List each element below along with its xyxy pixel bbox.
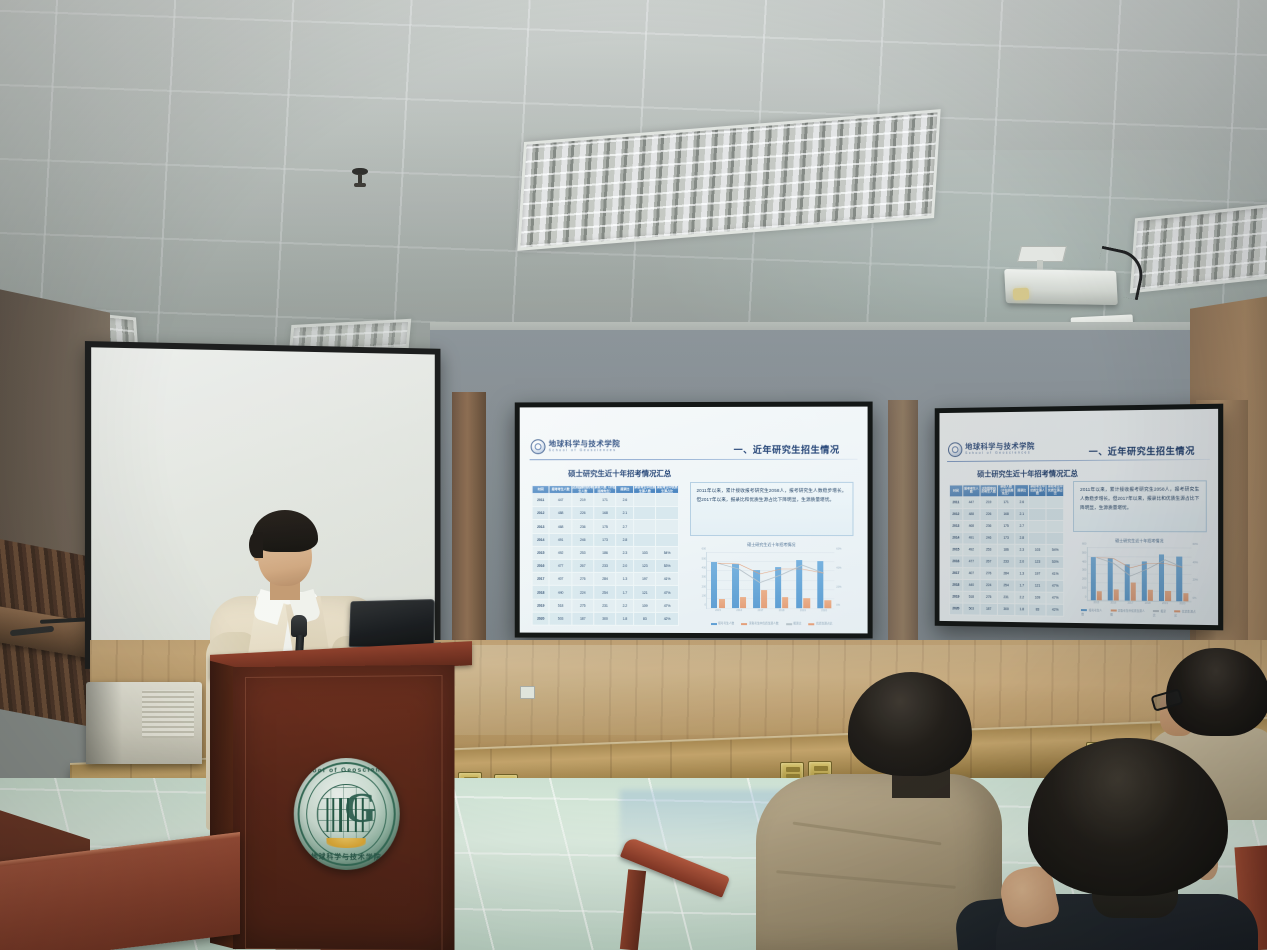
table-cell: 2.2 (616, 599, 634, 612)
table-cell: 2015 (532, 546, 550, 559)
table-cell: 491 (963, 532, 980, 544)
emblem-chinese-text: 地球科学与技术学院 (294, 851, 400, 862)
slide-canvas: 地球科学与技术学院 School of Geosciences 一、近年研究生招… (520, 407, 868, 634)
table-cell: 1.8 (616, 612, 634, 625)
table-cell: 47% (656, 586, 678, 599)
table-cell: 2.0 (616, 560, 634, 573)
table-cell: 47% (1046, 580, 1064, 592)
table-cell: 503 (963, 603, 980, 615)
table-cell: 2.6 (616, 494, 634, 507)
logo-english-name: School of Geosciences (549, 448, 621, 452)
table-cell: 186 (594, 546, 616, 559)
table-header-row: 时间报考考生人数达到国家线的考生人数录取人数（不包括推免生）报录比录取考生中优质… (532, 485, 678, 493)
chart-x-tick-label: 2016 (1105, 600, 1122, 604)
slide-subtitle: 硕士研究生近十年招考情况汇总 (568, 468, 671, 479)
table-cell: 47% (656, 599, 678, 612)
table-cell: 503 (549, 612, 571, 625)
mini-bar-chart: 硕士研究生近十年招考情况 01002003004005006000%20%40%… (1070, 536, 1209, 618)
emblem-english-text: School of Geosciences (294, 766, 400, 774)
chart-x-tick-label: 2019 (792, 608, 813, 612)
legend-label: 录取考生中优质生源人数 (749, 623, 779, 626)
table-row: 20174072762841.319741% (532, 573, 678, 586)
table-cell: 492 (549, 546, 571, 559)
table-cell (1029, 520, 1047, 532)
table-cell: 171 (997, 496, 1014, 508)
chart-x-tick-label: 2017 (750, 608, 771, 612)
table-row: 20205031873001.88342% (532, 612, 678, 626)
table-cell (1029, 496, 1047, 508)
legend-swatch (786, 623, 792, 625)
table-cell: 171 (594, 494, 616, 507)
chart-plot-area: 01002003004005006000%20%40%60%2015201620… (706, 552, 834, 609)
table-cell: 2011 (532, 494, 550, 507)
table-cell: 236 (572, 520, 594, 533)
chart-x-tick-label: 2019 (1156, 600, 1173, 604)
table-row: 20134682361752.7 (949, 520, 1064, 532)
table-cell: 2015 (949, 544, 963, 556)
school-seal-icon (531, 439, 546, 454)
attendee-hair (1166, 648, 1267, 736)
chart-legend-item: 报考考生人数 (1081, 608, 1104, 616)
table-cell: 447 (963, 497, 980, 509)
table-cell: 224 (980, 579, 997, 591)
table-row: 20114472191712.6 (949, 496, 1064, 508)
attendee-hair (848, 672, 972, 776)
table-cell: 2020 (949, 603, 963, 615)
legend-swatch (711, 623, 717, 625)
table-cell: 488 (963, 508, 980, 520)
legend-swatch (1110, 610, 1116, 612)
chart-secondary-y-tick-label: 60% (1191, 543, 1198, 546)
school-emblem: G School of Geosciences 地球科学与技术学院 (294, 757, 400, 871)
table-cell: 2014 (949, 532, 963, 544)
table-cell: 2.7 (1015, 520, 1029, 532)
table-cell: 231 (594, 599, 616, 612)
table-cell: 187 (980, 603, 997, 615)
table-cell: 54% (1046, 544, 1064, 556)
chart-x-tick-label: 2015 (1088, 600, 1105, 604)
table-cell: 2.1 (1015, 508, 1029, 520)
table-row: 20134682361752.7 (532, 520, 678, 533)
table-cell: 284 (594, 573, 616, 586)
chart-x-tick-label: 2020 (814, 608, 835, 612)
table-row: 20144912461732.8 (532, 533, 678, 546)
table-cell: 491 (549, 533, 571, 546)
table-cell: 2019 (949, 591, 963, 603)
table-cell: 253 (980, 544, 997, 556)
chart-x-tick-label: 2017 (1122, 600, 1139, 604)
table-header-row: 时间报考考生人数达到国家线的考生人数录取人数（不包括推免生）报录比录取考生中优质… (949, 485, 1064, 497)
attendee-hair (1028, 738, 1228, 896)
chart-legend-item: 报录比 (1153, 609, 1169, 617)
table-row: 20184402242541.712147% (532, 586, 678, 599)
chart-legend: 报考考生人数录取考生中优质生源人数报录比优质生源占比 (700, 621, 844, 625)
table-cell (1046, 520, 1064, 532)
table-cell: 2011 (949, 497, 963, 509)
table-cell: 447 (549, 494, 571, 507)
table-cell: 477 (963, 556, 980, 568)
table-cell: 123 (1029, 556, 1047, 568)
table-cell (634, 533, 656, 546)
table-cell: 2016 (949, 555, 963, 567)
table-col-header: 达到国家线的考生人数 (980, 485, 997, 497)
table-cell (634, 494, 656, 507)
speaking-podium: G School of Geosciences 地球科学与技术学院 (210, 648, 472, 950)
table-cell: 468 (963, 520, 980, 532)
chart-y-tick-label: 600 (702, 548, 708, 551)
table-col-header: 报录比 (1015, 485, 1029, 497)
table-col-header: 录取考生中优质生源占比 (1046, 485, 1064, 497)
table-cell: 275 (980, 591, 997, 603)
school-logo: 地球科学与技术学院 School of Geosciences (531, 439, 621, 454)
slide-canvas: 地球科学与技术学院 School of Geosciences 一、近年研究生招… (939, 409, 1218, 625)
presenter-hair (252, 510, 318, 552)
fire-sprinkler-icon (352, 168, 368, 190)
table-cell: 83 (634, 612, 656, 625)
table-cell: 197 (1029, 568, 1047, 580)
ac-grille-icon (142, 690, 194, 738)
projector-lens-icon (1013, 288, 1030, 301)
table-cell: 233 (997, 556, 1014, 568)
header-divider (948, 459, 1210, 463)
table-cell: 42% (1046, 604, 1064, 616)
table-cell (656, 520, 678, 533)
table-cell: 53% (1046, 556, 1064, 568)
table-cell: 300 (997, 603, 1014, 615)
table-cell: 2.1 (616, 507, 634, 520)
chart-secondary-y-tick-label: 40% (835, 567, 842, 570)
table-cell: 477 (549, 559, 571, 572)
summary-callout: 2011年以来，累计接收报考研究生2058人，报考研究生人数稳步增长。但2017… (1073, 480, 1206, 532)
table-cell: 2018 (532, 586, 550, 599)
table-cell: 2.6 (1015, 496, 1029, 508)
table-cell: 2020 (532, 612, 550, 625)
chart-line-overlay (1088, 547, 1191, 601)
table-cell: 219 (572, 494, 594, 507)
chart-line-series (1096, 558, 1182, 569)
table-cell: 1.7 (1015, 580, 1029, 592)
table-cell: 2017 (949, 567, 963, 579)
table-cell: 2.0 (1015, 556, 1029, 568)
sun-icon (326, 838, 365, 848)
chart-x-tick-label: 2018 (1139, 600, 1156, 604)
chart-legend-item: 优质生源占比 (809, 622, 833, 626)
chart-line-series (718, 564, 824, 575)
chart-secondary-y-tick-label: 0% (835, 604, 840, 607)
emblem-g-letter: G (344, 788, 376, 830)
table-cell (1046, 532, 1064, 544)
table-cell: 186 (997, 544, 1014, 556)
legend-swatch (741, 623, 747, 625)
table-cell: 284 (997, 568, 1014, 580)
table-col-header: 录取考生中优质生源人数 (634, 485, 656, 493)
table-cell: 123 (634, 560, 656, 573)
table-cell: 47% (1046, 592, 1064, 604)
wood-pillar (888, 400, 918, 650)
table-cell: 276 (980, 567, 997, 579)
table-cell: 440 (549, 586, 571, 599)
table-cell: 440 (963, 579, 980, 591)
table-row: 20124882261682.1 (532, 507, 678, 520)
table-cell: 2.7 (616, 520, 634, 533)
table-cell: 492 (963, 544, 980, 556)
table-row: 20174072762841.319741% (949, 567, 1064, 580)
chart-line-series (718, 564, 824, 584)
table-row: 20154922531862.310354% (532, 546, 678, 559)
table-col-header: 时间 (532, 486, 550, 494)
table-cell: 2012 (949, 508, 963, 520)
chart-x-tick-label: 2020 (1174, 601, 1191, 605)
chart-secondary-y-tick-label: 60% (835, 548, 842, 551)
table-cell: 276 (572, 573, 594, 586)
table-col-header: 录取考生中优质生源人数 (1029, 485, 1047, 497)
table-cell: 224 (572, 586, 594, 599)
table-cell: 103 (1029, 544, 1047, 556)
chart-title: 硕士研究生近十年招考情况 (686, 542, 857, 548)
chart-legend-item: 优质生源占比 (1174, 609, 1198, 617)
table-cell (634, 520, 656, 533)
laptop-screen[interactable] (349, 599, 435, 649)
table-cell: 518 (963, 591, 980, 603)
chart-title: 硕士研究生近十年招考情况 (1070, 538, 1209, 545)
chart-legend-item: 录取考生中优质生源人数 (1110, 608, 1147, 617)
table-cell: 109 (1029, 592, 1047, 604)
table-cell: 1.3 (616, 573, 634, 586)
legend-label: 报考考生人数 (718, 622, 734, 625)
legend-swatch (809, 623, 815, 625)
chart-y-tick-label: 600 (1082, 543, 1088, 546)
table-cell: 41% (1046, 568, 1064, 580)
table-cell: 41% (656, 573, 678, 586)
table-cell: 121 (634, 586, 656, 599)
table-cell: 219 (980, 497, 997, 509)
table-row: 20144912461732.8 (949, 532, 1064, 544)
table-cell: 254 (997, 579, 1014, 591)
table-cell: 53% (656, 560, 678, 573)
table-cell: 267 (980, 556, 997, 568)
chart-secondary-y-tick-label: 20% (835, 585, 842, 588)
table-cell: 246 (980, 532, 997, 544)
chart-legend-item: 报考考生人数 (711, 621, 735, 625)
table-cell (656, 494, 678, 507)
table-cell: 2.8 (1015, 532, 1029, 544)
table-cell: 246 (572, 533, 594, 546)
table-cell: 407 (963, 567, 980, 579)
table-cell: 54% (656, 546, 678, 559)
table-cell (1046, 508, 1064, 520)
chair-armrest (620, 856, 730, 950)
table-cell: 2012 (532, 507, 550, 520)
chart-legend-item: 报录比 (786, 622, 802, 626)
chart-line-series (1096, 558, 1182, 577)
table-col-header: 报录比 (616, 486, 634, 494)
table-cell (634, 507, 656, 520)
table-row: 20154922531862.310354% (949, 544, 1064, 556)
ceiling-projector (1005, 258, 1135, 314)
wood-pillar (452, 392, 486, 672)
table-cell: 168 (594, 507, 616, 520)
legend-label: 报录比 (793, 623, 801, 626)
legend-swatch (1081, 609, 1087, 611)
table-cell (1029, 532, 1047, 544)
table-cell: 1.8 (1015, 603, 1029, 615)
table-cell: 2013 (532, 520, 550, 533)
logo-chinese-name: 地球科学与技术学院 (549, 440, 621, 448)
table-col-header: 录取人数（不包括推免生） (997, 485, 1014, 497)
chart-secondary-y-tick-label: 40% (1191, 561, 1198, 564)
header-divider (530, 459, 857, 461)
table-col-header: 录取人数（不包括推免生） (594, 486, 616, 494)
table-cell: 121 (1029, 580, 1047, 592)
table-cell: 103 (634, 546, 656, 559)
table-row: 20205031873001.88342% (949, 603, 1064, 616)
chart-legend: 报考考生人数录取考生中优质生源人数报录比优质生源占比 (1081, 608, 1198, 618)
table-cell (1029, 508, 1047, 520)
projected-slide-main: 地球科学与技术学院 School of Geosciences 一、近年研究生招… (515, 402, 873, 639)
table-cell: 300 (594, 612, 616, 625)
admissions-table-wrap: 时间报考考生人数达到国家线的考生人数录取人数（不包括推免生）报录比录取考生中优质… (531, 485, 678, 626)
chart-legend-item: 录取考生中优质生源人数 (741, 621, 778, 625)
table-cell: 2.3 (1015, 544, 1029, 556)
table-cell: 2013 (949, 520, 963, 532)
table-row: 20114472191712.6 (532, 494, 678, 507)
callout-text: 2011年以来，累计接收报考研究生2058人，报考研究生人数稳步增长。但2017… (697, 486, 847, 504)
chart-x-tick-label: 2016 (729, 608, 750, 612)
table-cell: 233 (594, 559, 616, 572)
table-cell: 2019 (532, 599, 550, 612)
table-row: 20195182752312.210947% (532, 599, 678, 612)
logo-english-name: School of Geosciences (965, 451, 1035, 456)
table-cell: 109 (634, 599, 656, 612)
table-cell: 2014 (532, 533, 550, 546)
chart-x-tick-label: 2015 (707, 608, 728, 612)
table-cell: 275 (572, 599, 594, 612)
table-col-header: 报考考生人数 (963, 485, 980, 497)
table-cell: 175 (594, 520, 616, 533)
conference-room-photo: 地球科学与技术学院 School of Geosciences 一、近年研究生招… (0, 0, 1267, 950)
slide-subtitle: 硕士研究生近十年招考情况汇总 (977, 468, 1078, 480)
table-cell: 407 (549, 573, 571, 586)
table-cell: 2.8 (616, 533, 634, 546)
table-cell: 2.2 (1015, 591, 1029, 603)
table-cell: 231 (997, 591, 1014, 603)
table-cell: 173 (997, 532, 1014, 544)
school-logo: 地球科学与技术学院 School of Geosciences (948, 441, 1035, 457)
table-cell: 2018 (949, 579, 963, 591)
table-cell: 187 (572, 612, 594, 625)
air-conditioner-unit (86, 682, 202, 764)
admissions-table: 时间报考考生人数达到国家线的考生人数录取人数（不包括推免生）报录比录取考生中优质… (949, 484, 1065, 616)
mini-bar-chart: 硕士研究生近十年招考情况 01002003004005006000%20%40%… (686, 540, 857, 626)
table-cell: 2016 (532, 559, 550, 572)
table-cell (1046, 496, 1064, 508)
table-cell: 253 (572, 546, 594, 559)
chart-plot-area: 01002003004005006000%20%40%60%2015201620… (1087, 547, 1191, 602)
table-cell: 226 (980, 508, 997, 520)
table-col-header: 录取考生中优质生源占比 (656, 485, 678, 493)
table-cell: 175 (997, 520, 1014, 532)
table-cell: 42% (656, 612, 678, 625)
school-seal-icon (948, 442, 962, 457)
table-cell: 1.3 (1015, 568, 1029, 580)
admissions-table: 时间报考考生人数达到国家线的考生人数录取人数（不包括推免生）报录比录取考生中优质… (531, 485, 678, 626)
admissions-table-wrap: 时间报考考生人数达到国家线的考生人数录取人数（不包括推免生）报录比录取考生中优质… (949, 484, 1065, 616)
table-col-header: 时间 (949, 485, 963, 496)
chart-line-overlay (707, 552, 834, 608)
summary-callout: 2011年以来，累计接收报考研究生2058人，报考研究生人数稳步增长。但2017… (690, 481, 854, 535)
table-cell: 267 (572, 559, 594, 572)
table-row: 20124882261682.1 (949, 508, 1064, 520)
table-col-header: 达到国家线的考生人数 (572, 486, 594, 494)
table-cell (656, 507, 678, 520)
wall-power-socket[interactable] (520, 686, 535, 699)
table-cell: 488 (549, 507, 571, 520)
table-cell: 83 (1029, 604, 1047, 616)
table-cell: 518 (549, 599, 571, 612)
chart-x-tick-label: 2018 (771, 608, 792, 612)
chart-secondary-y-tick-label: 20% (1191, 579, 1198, 582)
table-cell: 2.3 (616, 546, 634, 559)
attendee-dark-shirt (1000, 738, 1252, 950)
legend-swatch (1174, 610, 1180, 612)
legend-label: 优质生源占比 (816, 623, 832, 626)
slide-title: 一、近年研究生招生情况 (1089, 444, 1195, 458)
slide-title: 一、近年研究生招生情况 (734, 443, 840, 456)
table-cell: 226 (572, 507, 594, 520)
table-row: 20164772672332.012353% (949, 555, 1064, 568)
table-cell: 468 (549, 520, 571, 533)
table-cell: 254 (594, 586, 616, 599)
legend-swatch (1153, 610, 1159, 612)
table-cell: 197 (634, 573, 656, 586)
projected-slide-secondary: 地球科学与技术学院 School of Geosciences 一、近年研究生招… (935, 404, 1224, 631)
table-cell: 168 (997, 508, 1014, 520)
table-row: 20164772672332.012353% (532, 559, 678, 572)
microphone-head-icon (291, 615, 307, 637)
table-cell: 173 (594, 533, 616, 546)
table-cell: 2017 (532, 573, 550, 586)
callout-text: 2011年以来，累计接收报考研究生2058人，报考研究生人数稳步增长。但2017… (1080, 485, 1199, 512)
chart-secondary-y-tick-label: 0% (1191, 596, 1196, 599)
table-cell (656, 533, 678, 546)
table-cell: 1.7 (616, 586, 634, 599)
table-cell: 236 (980, 520, 997, 532)
table-col-header: 报考考生人数 (549, 486, 571, 494)
